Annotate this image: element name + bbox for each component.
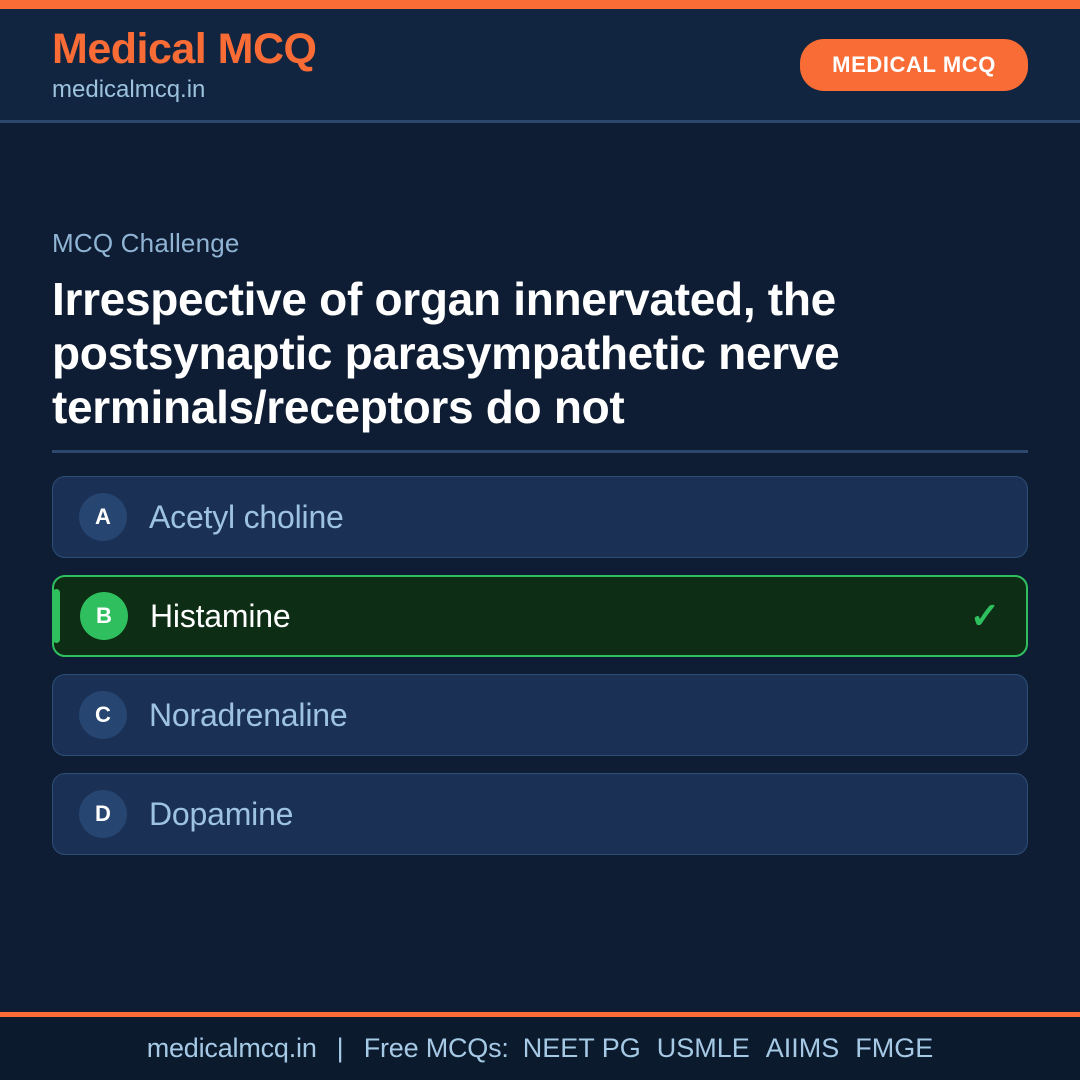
option-d[interactable]: D Dopamine ✓: [52, 773, 1028, 855]
eyebrow-label: MCQ Challenge: [52, 228, 1028, 259]
footer: medicalmcq.in | Free MCQs: NEET PG USMLE…: [0, 1012, 1080, 1080]
footer-separator: |: [317, 1033, 364, 1064]
brand-block: Medical MCQ medicalmcq.in: [52, 26, 317, 104]
header-badge[interactable]: MEDICAL MCQ: [800, 39, 1028, 91]
option-c[interactable]: C Noradrenaline ✓: [52, 674, 1028, 756]
main-content: MCQ Challenge Irrespective of organ inne…: [0, 123, 1080, 1012]
question-text: Irrespective of organ innervated, the po…: [52, 273, 1028, 450]
footer-text: medicalmcq.in | Free MCQs: NEET PG USMLE…: [147, 1033, 934, 1064]
option-label: Noradrenaline: [149, 697, 1005, 734]
question-divider: [52, 450, 1028, 453]
check-icon: ✓: [970, 598, 1000, 634]
footer-exam-aiims[interactable]: AIIMS: [766, 1033, 840, 1064]
option-letter-badge: A: [79, 493, 127, 541]
option-letter-badge: C: [79, 691, 127, 739]
option-label: Acetyl choline: [149, 499, 1005, 536]
footer-exam-neet-pg[interactable]: NEET PG: [523, 1033, 641, 1064]
option-label: Histamine: [150, 598, 970, 635]
option-label: Dopamine: [149, 796, 1005, 833]
option-letter-badge: B: [80, 592, 128, 640]
footer-label: Free MCQs:: [364, 1033, 509, 1064]
option-a[interactable]: A Acetyl choline ✓: [52, 476, 1028, 558]
footer-exam-list: NEET PG USMLE AIIMS FMGE: [509, 1033, 934, 1064]
option-b[interactable]: B Histamine ✓: [52, 575, 1028, 657]
option-accent-bar: [53, 589, 60, 643]
brand-title: Medical MCQ: [52, 26, 317, 72]
footer-exam-usmle[interactable]: USMLE: [657, 1033, 750, 1064]
header: Medical MCQ medicalmcq.in MEDICAL MCQ: [0, 9, 1080, 123]
mcq-card: Medical MCQ medicalmcq.in MEDICAL MCQ MC…: [0, 0, 1080, 1080]
footer-exam-fmge[interactable]: FMGE: [855, 1033, 933, 1064]
brand-url: medicalmcq.in: [52, 77, 317, 103]
option-letter-badge: D: [79, 790, 127, 838]
top-accent-bar: [0, 0, 1080, 9]
footer-site-link[interactable]: medicalmcq.in: [147, 1033, 317, 1064]
options-list: A Acetyl choline ✓ B Histamine ✓ C Norad…: [52, 476, 1028, 855]
